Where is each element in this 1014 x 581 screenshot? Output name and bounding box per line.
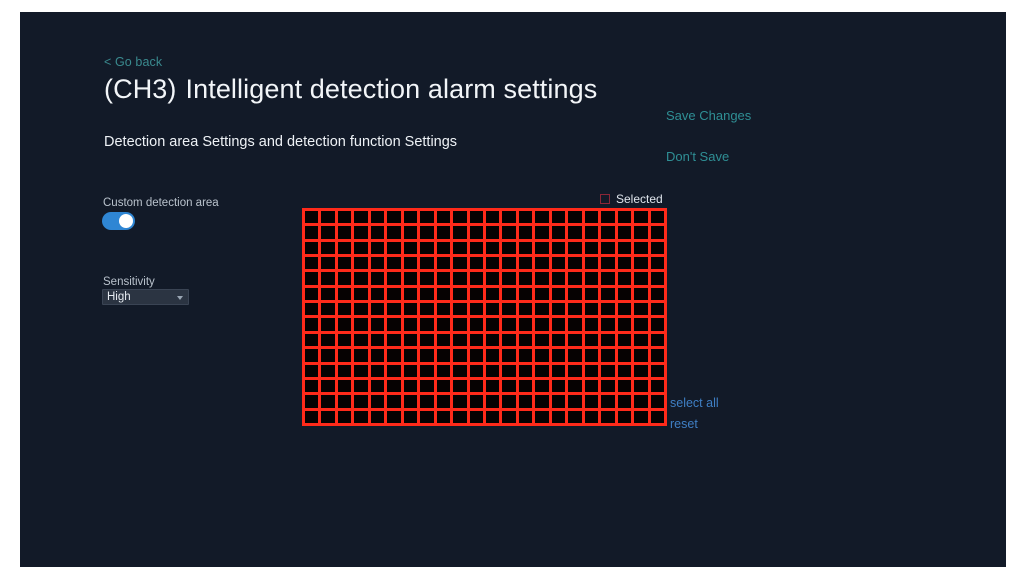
grid-cell[interactable]: [535, 349, 548, 361]
grid-cell[interactable]: [470, 365, 483, 377]
grid-cell[interactable]: [437, 411, 450, 423]
grid-cell[interactable]: [420, 334, 433, 346]
grid-cell[interactable]: [305, 211, 318, 223]
grid-cell[interactable]: [404, 395, 417, 407]
grid-cell[interactable]: [502, 411, 515, 423]
selected-checkbox[interactable]: [600, 194, 610, 204]
grid-cell[interactable]: [354, 272, 367, 284]
grid-cell[interactable]: [404, 303, 417, 315]
grid-cell[interactable]: [453, 411, 466, 423]
grid-cell[interactable]: [371, 395, 384, 407]
grid-cell[interactable]: [305, 334, 318, 346]
grid-cell[interactable]: [305, 303, 318, 315]
grid-cell[interactable]: [371, 242, 384, 254]
grid-cell[interactable]: [321, 395, 334, 407]
grid-cell[interactable]: [404, 242, 417, 254]
grid-cell[interactable]: [502, 349, 515, 361]
grid-cell[interactable]: [470, 211, 483, 223]
grid-cell[interactable]: [552, 395, 565, 407]
grid-cell[interactable]: [453, 365, 466, 377]
grid-cell[interactable]: [354, 411, 367, 423]
grid-cell[interactable]: [453, 257, 466, 269]
grid-cell[interactable]: [354, 349, 367, 361]
grid-cell[interactable]: [535, 257, 548, 269]
grid-cell[interactable]: [420, 257, 433, 269]
grid-cell[interactable]: [470, 411, 483, 423]
grid-cell[interactable]: [585, 395, 598, 407]
grid-cell[interactable]: [437, 272, 450, 284]
select-all-button[interactable]: select all: [670, 396, 719, 410]
grid-cell[interactable]: [470, 303, 483, 315]
grid-cell[interactable]: [387, 242, 400, 254]
grid-cell[interactable]: [371, 211, 384, 223]
grid-cell[interactable]: [354, 380, 367, 392]
grid-cell[interactable]: [437, 395, 450, 407]
grid-cell[interactable]: [321, 272, 334, 284]
grid-cell[interactable]: [535, 411, 548, 423]
grid-cell[interactable]: [651, 318, 664, 330]
grid-cell[interactable]: [634, 242, 647, 254]
grid-cell[interactable]: [404, 257, 417, 269]
grid-cell[interactable]: [618, 272, 631, 284]
grid-cell[interactable]: [519, 288, 532, 300]
grid-cell[interactable]: [437, 349, 450, 361]
grid-cell[interactable]: [634, 365, 647, 377]
grid-cell[interactable]: [486, 211, 499, 223]
grid-cell[interactable]: [371, 288, 384, 300]
grid-cell[interactable]: [404, 349, 417, 361]
grid-cell[interactable]: [618, 334, 631, 346]
grid-cell[interactable]: [470, 272, 483, 284]
grid-cell[interactable]: [387, 380, 400, 392]
grid-cell[interactable]: [338, 365, 351, 377]
grid-cell[interactable]: [535, 242, 548, 254]
grid-cell[interactable]: [568, 411, 581, 423]
grid-cell[interactable]: [420, 349, 433, 361]
grid-cell[interactable]: [552, 334, 565, 346]
grid-cell[interactable]: [552, 365, 565, 377]
grid-cell[interactable]: [437, 211, 450, 223]
grid-cell[interactable]: [618, 242, 631, 254]
grid-cell[interactable]: [387, 349, 400, 361]
grid-cell[interactable]: [519, 226, 532, 238]
grid-cell[interactable]: [519, 242, 532, 254]
grid-cell[interactable]: [338, 242, 351, 254]
grid-cell[interactable]: [420, 365, 433, 377]
grid-cell[interactable]: [321, 226, 334, 238]
grid-cell[interactable]: [305, 395, 318, 407]
grid-cell[interactable]: [470, 334, 483, 346]
grid-cell[interactable]: [371, 365, 384, 377]
grid-cell[interactable]: [354, 211, 367, 223]
grid-cell[interactable]: [502, 257, 515, 269]
grid-cell[interactable]: [519, 257, 532, 269]
grid-cell[interactable]: [585, 303, 598, 315]
grid-cell[interactable]: [568, 395, 581, 407]
grid-cell[interactable]: [420, 380, 433, 392]
grid-cell[interactable]: [371, 303, 384, 315]
grid-cell[interactable]: [568, 242, 581, 254]
grid-cell[interactable]: [437, 257, 450, 269]
grid-cell[interactable]: [354, 365, 367, 377]
grid-cell[interactable]: [502, 380, 515, 392]
grid-cell[interactable]: [519, 303, 532, 315]
grid-cell[interactable]: [305, 272, 318, 284]
grid-cell[interactable]: [568, 272, 581, 284]
grid-cell[interactable]: [552, 226, 565, 238]
grid-cell[interactable]: [634, 411, 647, 423]
grid-cell[interactable]: [321, 303, 334, 315]
grid-cell[interactable]: [470, 226, 483, 238]
grid-cell[interactable]: [601, 349, 614, 361]
grid-cell[interactable]: [486, 257, 499, 269]
grid-cell[interactable]: [568, 303, 581, 315]
grid-cell[interactable]: [651, 411, 664, 423]
grid-cell[interactable]: [420, 288, 433, 300]
grid-cell[interactable]: [486, 365, 499, 377]
grid-cell[interactable]: [305, 242, 318, 254]
grid-cell[interactable]: [651, 272, 664, 284]
grid-cell[interactable]: [321, 211, 334, 223]
grid-cell[interactable]: [453, 303, 466, 315]
grid-cell[interactable]: [601, 211, 614, 223]
grid-cell[interactable]: [321, 380, 334, 392]
grid-cell[interactable]: [321, 288, 334, 300]
grid-cell[interactable]: [651, 334, 664, 346]
grid-cell[interactable]: [634, 318, 647, 330]
grid-cell[interactable]: [371, 411, 384, 423]
grid-cell[interactable]: [651, 257, 664, 269]
grid-cell[interactable]: [305, 288, 318, 300]
grid-cell[interactable]: [404, 226, 417, 238]
grid-cell[interactable]: [634, 380, 647, 392]
grid-cell[interactable]: [535, 334, 548, 346]
grid-cell[interactable]: [601, 380, 614, 392]
grid-cell[interactable]: [651, 242, 664, 254]
grid-cell[interactable]: [568, 318, 581, 330]
grid-cell[interactable]: [437, 303, 450, 315]
grid-cell[interactable]: [420, 226, 433, 238]
grid-cell[interactable]: [585, 334, 598, 346]
grid-cell[interactable]: [634, 334, 647, 346]
grid-cell[interactable]: [354, 395, 367, 407]
grid-cell[interactable]: [486, 395, 499, 407]
go-back-link[interactable]: < Go back: [104, 55, 162, 69]
grid-cell[interactable]: [486, 303, 499, 315]
grid-cell[interactable]: [634, 288, 647, 300]
grid-cell[interactable]: [387, 411, 400, 423]
grid-cell[interactable]: [552, 288, 565, 300]
reset-button[interactable]: reset: [670, 417, 698, 431]
grid-cell[interactable]: [568, 349, 581, 361]
grid-cell[interactable]: [371, 272, 384, 284]
grid-cell[interactable]: [618, 257, 631, 269]
grid-cell[interactable]: [338, 318, 351, 330]
grid-cell[interactable]: [651, 395, 664, 407]
grid-cell[interactable]: [535, 365, 548, 377]
grid-cell[interactable]: [453, 226, 466, 238]
grid-cell[interactable]: [354, 257, 367, 269]
grid-cell[interactable]: [486, 411, 499, 423]
grid-cell[interactable]: [420, 411, 433, 423]
grid-cell[interactable]: [305, 226, 318, 238]
grid-cell[interactable]: [519, 211, 532, 223]
grid-cell[interactable]: [618, 395, 631, 407]
grid-cell[interactable]: [453, 334, 466, 346]
grid-cell[interactable]: [354, 242, 367, 254]
grid-cell[interactable]: [453, 395, 466, 407]
grid-cell[interactable]: [502, 288, 515, 300]
grid-cell[interactable]: [502, 303, 515, 315]
grid-cell[interactable]: [387, 288, 400, 300]
grid-cell[interactable]: [502, 272, 515, 284]
grid-cell[interactable]: [618, 226, 631, 238]
grid-cell[interactable]: [552, 242, 565, 254]
grid-cell[interactable]: [502, 318, 515, 330]
grid-cell[interactable]: [585, 288, 598, 300]
grid-cell[interactable]: [404, 211, 417, 223]
grid-cell[interactable]: [601, 411, 614, 423]
grid-cell[interactable]: [601, 257, 614, 269]
grid-cell[interactable]: [371, 334, 384, 346]
grid-cell[interactable]: [552, 211, 565, 223]
grid-cell[interactable]: [354, 334, 367, 346]
grid-cell[interactable]: [552, 318, 565, 330]
grid-cell[interactable]: [470, 242, 483, 254]
grid-cell[interactable]: [354, 226, 367, 238]
grid-cell[interactable]: [535, 318, 548, 330]
grid-cell[interactable]: [470, 257, 483, 269]
grid-cell[interactable]: [321, 365, 334, 377]
grid-cell[interactable]: [601, 288, 614, 300]
grid-cell[interactable]: [618, 365, 631, 377]
grid-cell[interactable]: [618, 318, 631, 330]
grid-cell[interactable]: [420, 242, 433, 254]
grid-cell[interactable]: [535, 272, 548, 284]
grid-cell[interactable]: [601, 272, 614, 284]
grid-cell[interactable]: [618, 211, 631, 223]
grid-cell[interactable]: [321, 349, 334, 361]
grid-cell[interactable]: [420, 303, 433, 315]
grid-cell[interactable]: [618, 349, 631, 361]
grid-cell[interactable]: [552, 380, 565, 392]
detection-area-grid[interactable]: [302, 208, 667, 426]
grid-cell[interactable]: [618, 303, 631, 315]
grid-cell[interactable]: [387, 395, 400, 407]
grid-cell[interactable]: [338, 211, 351, 223]
grid-cell[interactable]: [502, 334, 515, 346]
grid-cell[interactable]: [585, 257, 598, 269]
grid-cell[interactable]: [338, 272, 351, 284]
grid-cell[interactable]: [601, 395, 614, 407]
grid-cell[interactable]: [585, 411, 598, 423]
grid-cell[interactable]: [305, 257, 318, 269]
grid-cell[interactable]: [502, 242, 515, 254]
grid-cell[interactable]: [453, 211, 466, 223]
grid-cell[interactable]: [486, 272, 499, 284]
grid-cell[interactable]: [568, 334, 581, 346]
grid-cell[interactable]: [535, 211, 548, 223]
grid-cell[interactable]: [338, 380, 351, 392]
grid-cell[interactable]: [305, 411, 318, 423]
grid-cell[interactable]: [387, 211, 400, 223]
grid-cell[interactable]: [618, 411, 631, 423]
grid-cell[interactable]: [535, 288, 548, 300]
grid-cell[interactable]: [486, 334, 499, 346]
grid-cell[interactable]: [453, 272, 466, 284]
grid-cell[interactable]: [437, 380, 450, 392]
grid-cell[interactable]: [634, 303, 647, 315]
grid-cell[interactable]: [585, 318, 598, 330]
grid-cell[interactable]: [305, 349, 318, 361]
grid-cell[interactable]: [568, 365, 581, 377]
grid-cell[interactable]: [453, 349, 466, 361]
grid-cell[interactable]: [453, 242, 466, 254]
grid-cell[interactable]: [404, 288, 417, 300]
grid-cell[interactable]: [601, 242, 614, 254]
grid-cell[interactable]: [338, 288, 351, 300]
grid-cell[interactable]: [535, 395, 548, 407]
grid-cell[interactable]: [387, 272, 400, 284]
grid-cell[interactable]: [470, 288, 483, 300]
grid-cell[interactable]: [486, 242, 499, 254]
grid-cell[interactable]: [535, 226, 548, 238]
grid-cell[interactable]: [420, 211, 433, 223]
grid-cell[interactable]: [338, 411, 351, 423]
dont-save-button[interactable]: Don't Save: [666, 149, 729, 164]
grid-cell[interactable]: [585, 272, 598, 284]
grid-cell[interactable]: [387, 365, 400, 377]
grid-cell[interactable]: [437, 242, 450, 254]
grid-cell[interactable]: [371, 380, 384, 392]
grid-cell[interactable]: [601, 365, 614, 377]
grid-cell[interactable]: [585, 380, 598, 392]
grid-cell[interactable]: [321, 242, 334, 254]
grid-cell[interactable]: [437, 318, 450, 330]
grid-cell[interactable]: [321, 411, 334, 423]
grid-cell[interactable]: [585, 365, 598, 377]
grid-cell[interactable]: [585, 226, 598, 238]
grid-cell[interactable]: [502, 226, 515, 238]
grid-cell[interactable]: [634, 257, 647, 269]
grid-cell[interactable]: [404, 272, 417, 284]
grid-cell[interactable]: [371, 257, 384, 269]
sensitivity-select[interactable]: High: [102, 289, 189, 305]
grid-cell[interactable]: [404, 318, 417, 330]
grid-cell[interactable]: [634, 272, 647, 284]
grid-cell[interactable]: [519, 411, 532, 423]
grid-cell[interactable]: [535, 380, 548, 392]
grid-cell[interactable]: [651, 226, 664, 238]
grid-cell[interactable]: [338, 257, 351, 269]
grid-cell[interactable]: [387, 318, 400, 330]
grid-cell[interactable]: [502, 395, 515, 407]
grid-cell[interactable]: [338, 395, 351, 407]
grid-cell[interactable]: [601, 334, 614, 346]
grid-cell[interactable]: [552, 272, 565, 284]
grid-cell[interactable]: [651, 365, 664, 377]
grid-cell[interactable]: [634, 211, 647, 223]
grid-cell[interactable]: [470, 349, 483, 361]
grid-cell[interactable]: [371, 226, 384, 238]
grid-cell[interactable]: [535, 303, 548, 315]
grid-cell[interactable]: [404, 365, 417, 377]
grid-cell[interactable]: [470, 380, 483, 392]
grid-cell[interactable]: [651, 349, 664, 361]
grid-cell[interactable]: [470, 318, 483, 330]
grid-cell[interactable]: [568, 257, 581, 269]
grid-cell[interactable]: [486, 226, 499, 238]
grid-cell[interactable]: [486, 318, 499, 330]
grid-cell[interactable]: [601, 303, 614, 315]
grid-cell[interactable]: [404, 380, 417, 392]
grid-cell[interactable]: [486, 288, 499, 300]
grid-cell[interactable]: [354, 288, 367, 300]
grid-cell[interactable]: [519, 380, 532, 392]
grid-cell[interactable]: [502, 365, 515, 377]
grid-cell[interactable]: [552, 349, 565, 361]
grid-cell[interactable]: [437, 288, 450, 300]
grid-cell[interactable]: [453, 318, 466, 330]
grid-cell[interactable]: [519, 349, 532, 361]
grid-cell[interactable]: [519, 365, 532, 377]
grid-cell[interactable]: [601, 226, 614, 238]
grid-cell[interactable]: [387, 257, 400, 269]
grid-cell[interactable]: [568, 380, 581, 392]
grid-cell[interactable]: [618, 288, 631, 300]
grid-cell[interactable]: [552, 257, 565, 269]
grid-cell[interactable]: [618, 380, 631, 392]
grid-cell[interactable]: [651, 303, 664, 315]
grid-cell[interactable]: [470, 395, 483, 407]
grid-cell[interactable]: [354, 318, 367, 330]
grid-cell[interactable]: [371, 349, 384, 361]
grid-cell[interactable]: [568, 211, 581, 223]
grid-cell[interactable]: [404, 334, 417, 346]
grid-cell[interactable]: [568, 226, 581, 238]
grid-cell[interactable]: [519, 272, 532, 284]
grid-cell[interactable]: [601, 318, 614, 330]
grid-cell[interactable]: [486, 380, 499, 392]
grid-cell[interactable]: [437, 334, 450, 346]
grid-cell[interactable]: [585, 349, 598, 361]
grid-cell[interactable]: [552, 411, 565, 423]
custom-detection-area-toggle[interactable]: [102, 212, 135, 230]
grid-cell[interactable]: [321, 334, 334, 346]
grid-cell[interactable]: [387, 303, 400, 315]
grid-cell[interactable]: [387, 226, 400, 238]
grid-cell[interactable]: [651, 288, 664, 300]
grid-cell[interactable]: [305, 365, 318, 377]
grid-cell[interactable]: [420, 272, 433, 284]
grid-cell[interactable]: [634, 226, 647, 238]
grid-cell[interactable]: [354, 303, 367, 315]
grid-cell[interactable]: [651, 211, 664, 223]
grid-cell[interactable]: [651, 380, 664, 392]
grid-cell[interactable]: [486, 349, 499, 361]
grid-cell[interactable]: [420, 395, 433, 407]
grid-cell[interactable]: [519, 334, 532, 346]
grid-cell[interactable]: [634, 395, 647, 407]
grid-cell[interactable]: [371, 318, 384, 330]
grid-cell[interactable]: [338, 334, 351, 346]
grid-cell[interactable]: [338, 349, 351, 361]
grid-cell[interactable]: [338, 303, 351, 315]
grid-cell[interactable]: [305, 318, 318, 330]
grid-cell[interactable]: [585, 242, 598, 254]
grid-cell[interactable]: [305, 380, 318, 392]
grid-cell[interactable]: [453, 288, 466, 300]
